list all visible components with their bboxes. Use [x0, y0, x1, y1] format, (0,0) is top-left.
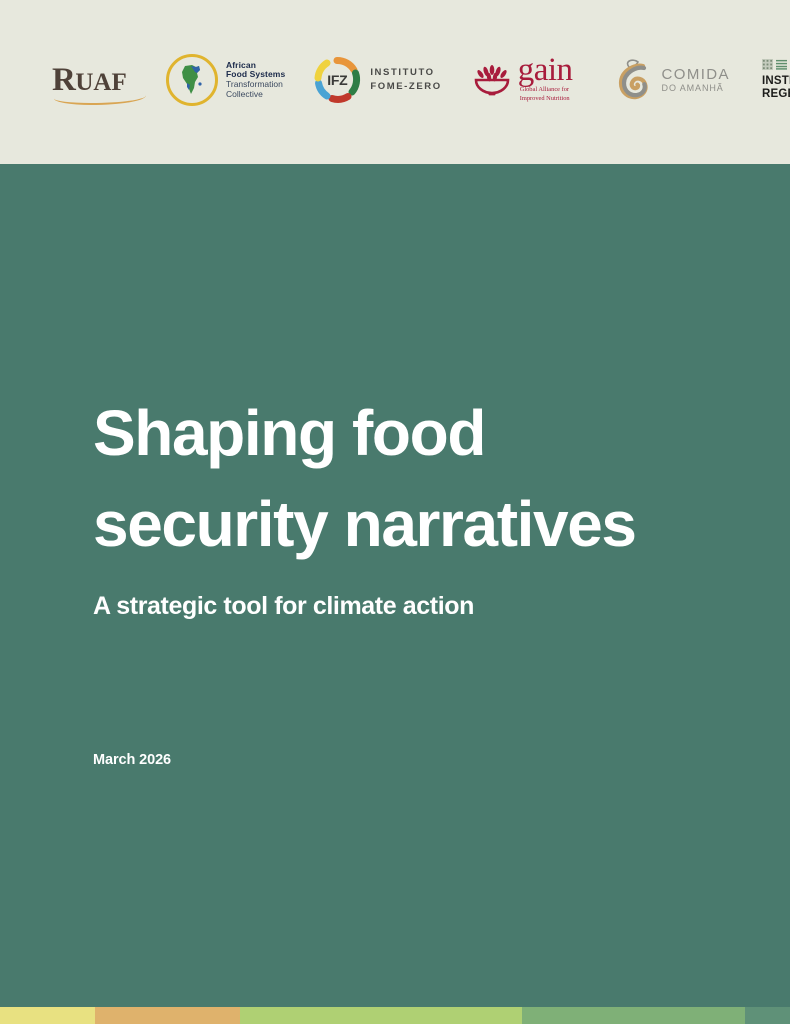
comida-text-block: COMIDA DO AMANHÃ — [662, 67, 730, 93]
page-subtitle: A strategic tool for climate action — [93, 592, 713, 621]
gain-text-block: gain Global Alliance for Improved Nutrit… — [518, 57, 573, 103]
logo-african-food-systems: African Food Systems Transformation Coll… — [166, 54, 285, 106]
decorative-color-bar — [0, 1007, 790, 1024]
comida-line-1: COMIDA — [662, 67, 730, 83]
page-title-line-1: Shaping food — [93, 388, 713, 479]
logo-gain: gain Global Alliance for Improved Nutrit… — [472, 54, 573, 106]
ifz-line-2: FOME-ZERO — [370, 80, 441, 94]
regenera-text-block: INSTITUTO REGENERA — [762, 75, 790, 102]
ifz-ring-icon: IFZ — [313, 56, 361, 104]
ifz-line-1: INSTITUTO — [370, 66, 441, 80]
logo-instituto-fome-zero: IFZ INSTITUTO FOME-ZERO — [313, 54, 441, 106]
ruaf-swoosh-icon — [54, 89, 146, 105]
gain-tagline-line-1: Global Alliance for — [520, 86, 573, 94]
comida-spiral-apple-icon — [611, 56, 655, 104]
regenera-line-1: INSTITUTO — [762, 75, 790, 88]
color-bar-segment-4 — [522, 1007, 745, 1024]
africa-map-badge-icon — [166, 54, 218, 106]
regenera-tile-2-icon — [776, 59, 787, 70]
gain-tagline: Global Alliance for Improved Nutrition — [520, 86, 573, 103]
logo-instituto-regenera: INSTITUTO REGENERA — [762, 59, 790, 102]
regenera-tile-1-icon — [762, 59, 773, 70]
color-bar-segment-2 — [95, 1007, 240, 1024]
page-title-line-2: security narratives — [93, 479, 713, 570]
logo-comida-do-amanha: COMIDA DO AMANHÃ — [611, 54, 730, 106]
regenera-line-2: REGENERA — [762, 88, 790, 101]
gain-wordmark: gain — [518, 57, 573, 84]
title-block: Shaping food security narratives A strat… — [93, 388, 713, 621]
cover-page: RUAF African Food Systems Transformati — [0, 0, 790, 1024]
comida-line-2: DO AMANHÃ — [662, 84, 730, 93]
logo-row: RUAF African Food Systems Transformati — [0, 52, 790, 108]
gain-bowl-wheat-icon — [472, 63, 512, 97]
page-title: Shaping food security narratives — [93, 388, 713, 570]
afs-line-4: Collective — [226, 90, 285, 100]
color-bar-segment-3 — [240, 1007, 522, 1024]
regenera-pattern-tiles-icon — [762, 59, 790, 70]
africa-map-icon — [178, 64, 206, 96]
logo-ruaf: RUAF — [52, 54, 148, 106]
afs-text-block: African Food Systems Transformation Coll… — [226, 61, 285, 99]
publication-date: March 2026 — [93, 752, 171, 768]
color-bar-segment-5 — [745, 1007, 790, 1024]
color-bar-segment-1 — [0, 1007, 95, 1024]
partner-logo-band: RUAF African Food Systems Transformati — [0, 0, 790, 164]
ifz-text-block: INSTITUTO FOME-ZERO — [370, 66, 441, 94]
gain-tagline-line-2: Improved Nutrition — [520, 95, 573, 103]
ifz-monogram: IFZ — [313, 56, 361, 104]
